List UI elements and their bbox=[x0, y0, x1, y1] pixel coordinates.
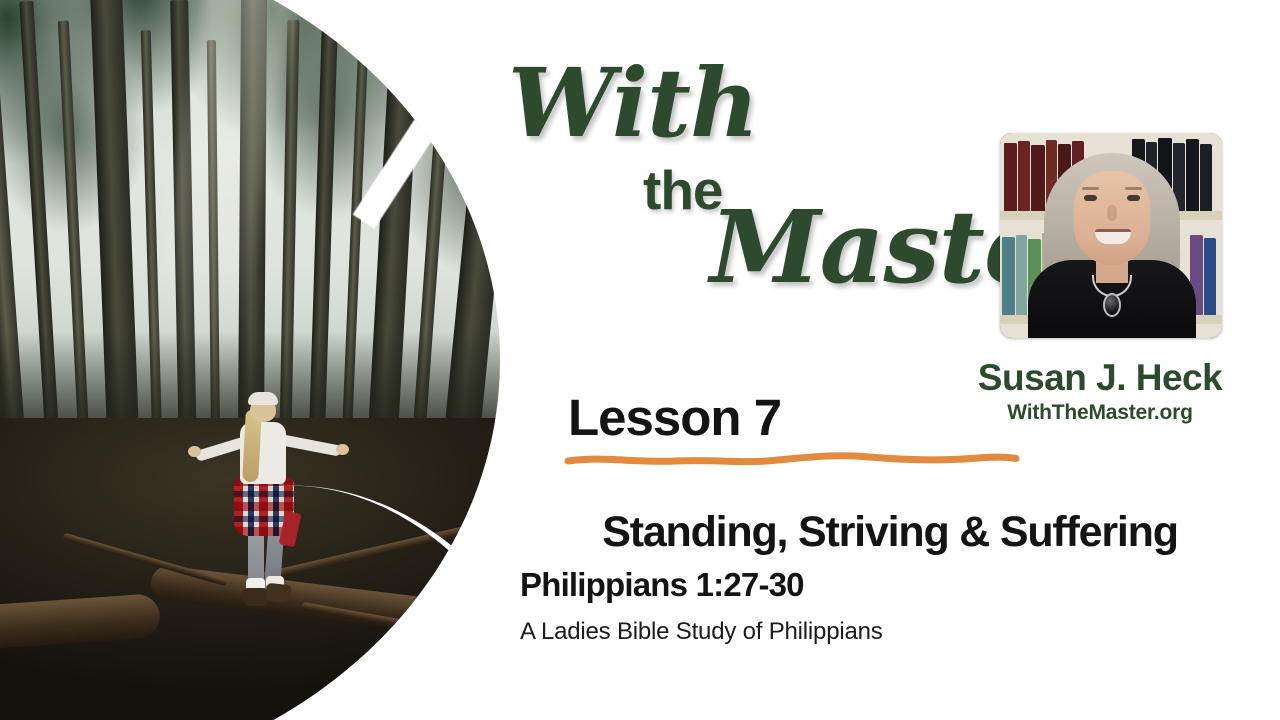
presenter-eye-right bbox=[1127, 195, 1140, 201]
hiker-left-hand bbox=[188, 446, 201, 457]
forest-scene bbox=[0, 0, 500, 720]
presenter-brow-left bbox=[1082, 187, 1099, 190]
hiker-right-hand bbox=[336, 444, 349, 455]
logo-word-with: With bbox=[508, 48, 758, 159]
forest-photo bbox=[0, 0, 500, 720]
study-subtitle: A Ladies Bible Study of Philippians bbox=[520, 618, 883, 646]
presentation-slide: With the Master bbox=[0, 0, 1280, 720]
presenter-website-text: WithTheMaster.org bbox=[920, 401, 1280, 425]
presenter-name-block: Susan J. Heck WithTheMaster.org bbox=[920, 358, 1280, 425]
with-the-master-logo: With the Master bbox=[500, 20, 1020, 270]
presenter-name-text: Susan J. Heck bbox=[920, 358, 1280, 397]
presenter-nose bbox=[1107, 205, 1117, 221]
content-panel: With the Master bbox=[500, 0, 1280, 720]
hiker-right-arm bbox=[279, 434, 342, 457]
orange-wavy-divider bbox=[564, 448, 1020, 470]
scripture-reference: Philippians 1:27-30 bbox=[520, 566, 804, 604]
hiker-cap bbox=[248, 392, 278, 405]
hiker-left-boot bbox=[243, 588, 268, 606]
presenter-eye-left bbox=[1084, 195, 1097, 201]
lesson-title: Standing, Striving & Suffering bbox=[510, 508, 1270, 557]
lesson-number: Lesson 7 bbox=[568, 388, 781, 447]
presenter-photo bbox=[1000, 133, 1222, 338]
presenter-smile bbox=[1095, 229, 1131, 244]
necklace-pendant bbox=[1103, 293, 1121, 317]
presenter-brow-right bbox=[1125, 187, 1142, 190]
